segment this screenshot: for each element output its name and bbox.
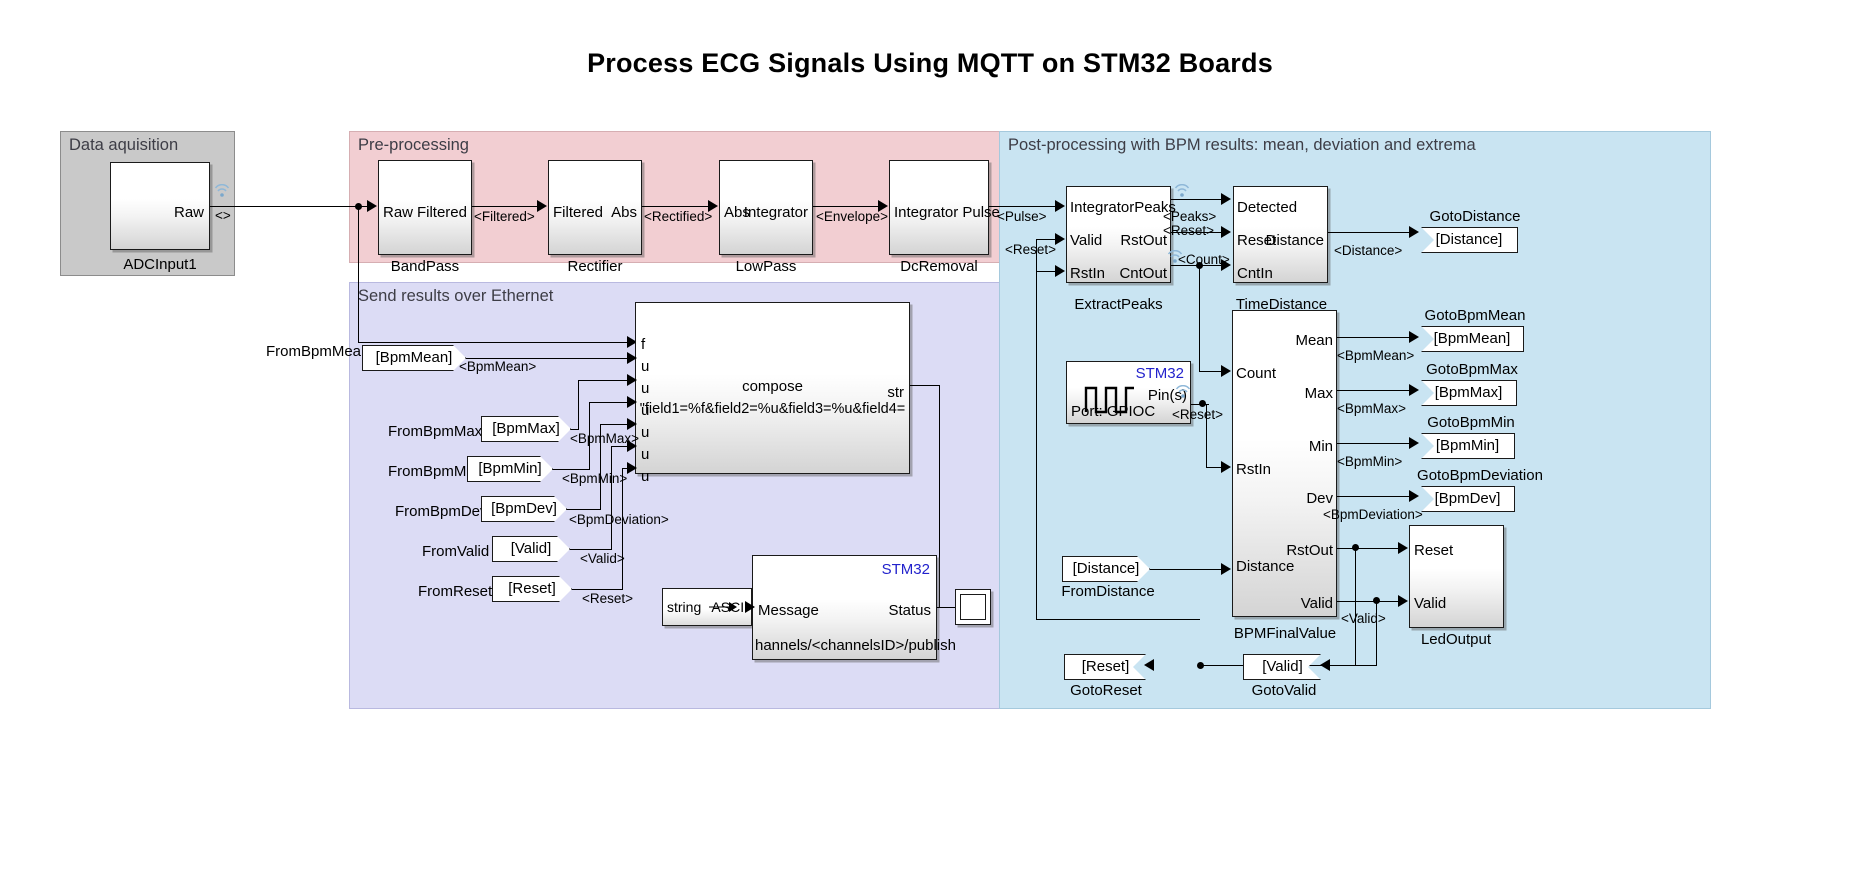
goto-tag-bpm-deviation[interactable]: [BpmDev] bbox=[1421, 486, 1515, 512]
port-label-adc-bus: <> bbox=[215, 208, 231, 223]
port-label-bandpass-out: Filtered bbox=[417, 205, 467, 220]
signal-label-bpmmin: <BpmMin> bbox=[562, 471, 627, 486]
port-label-led-valid: Valid bbox=[1414, 596, 1446, 611]
stm32-brand-gpio: STM32 bbox=[1136, 365, 1184, 382]
arrow-goto-distance bbox=[1409, 226, 1419, 238]
tag-name-from-bpm-min: FromBpmMin bbox=[388, 463, 478, 480]
arrow-goto-bpmmax bbox=[1409, 384, 1419, 396]
tag-name-from-bpm-dev: FromBpmDev bbox=[395, 503, 488, 520]
port-label-timedistance-in3: CntIn bbox=[1237, 266, 1273, 281]
block-name-lowpass: LowPass bbox=[719, 258, 813, 275]
signal-label-bpmmean-out: <BpmMean> bbox=[1337, 348, 1414, 363]
tag-name-from-bpm-mean: FromBpmMean bbox=[266, 343, 369, 360]
from-tag-valid-text: [Valid] bbox=[493, 537, 569, 560]
wifi-icon-gpio bbox=[1175, 385, 1191, 398]
arrow-goto-reset bbox=[1144, 659, 1154, 671]
signal-label-valid: <Valid> bbox=[580, 551, 625, 566]
arrow-led-valid bbox=[1398, 595, 1408, 607]
group-label-preprocessing: Pre-processing bbox=[358, 136, 469, 155]
arrow-goto-bpmdev bbox=[1409, 490, 1419, 502]
tag-name-from-reset: FromReset bbox=[418, 583, 492, 600]
wire-peaks bbox=[1171, 199, 1222, 200]
tag-name-goto-bpm-max: GotoBpmMax bbox=[1410, 361, 1534, 378]
simulink-diagram: Process ECG Signals Using MQTT on STM32 … bbox=[0, 0, 1860, 874]
port-label-bpm-min: Min bbox=[1309, 439, 1333, 454]
from-tag-distance[interactable]: [Distance] bbox=[1062, 556, 1150, 582]
port-label-led-reset: Reset bbox=[1414, 543, 1453, 558]
arrow-extractpeaks-in1 bbox=[1055, 200, 1065, 212]
port-label-mqtt-message: Message bbox=[758, 603, 819, 618]
wire-status-out bbox=[937, 607, 955, 608]
block-label-ascii: ASCII bbox=[711, 599, 748, 615]
arrow-extractpeaks-in3 bbox=[1055, 265, 1065, 277]
signal-label-reset-gpio: <Reset> bbox=[1172, 407, 1223, 422]
group-label-postprocessing: Post-processing with BPM results: mean, … bbox=[1008, 136, 1476, 155]
from-tag-bpm-dev[interactable]: [BpmDev] bbox=[481, 496, 567, 522]
block-rectifier[interactable]: Filtered Abs bbox=[548, 160, 642, 255]
port-label-bandpass-in: Raw bbox=[383, 205, 413, 220]
wire-raw-down bbox=[358, 206, 359, 343]
block-name-bandpass: BandPass bbox=[378, 258, 472, 275]
signal-label-pulse: <Pulse> bbox=[997, 209, 1047, 224]
group-label-ethernet: Send results over Ethernet bbox=[358, 287, 553, 306]
port-label-rectifier-in: Filtered bbox=[553, 205, 603, 220]
arrow-compose-u3 bbox=[627, 396, 637, 408]
junction-gpio-reset bbox=[1199, 400, 1206, 407]
port-label-extractpeaks-in3: RstIn bbox=[1070, 266, 1105, 281]
wire-rstout-to-led bbox=[1337, 548, 1400, 549]
tag-name-from-valid: FromValid bbox=[422, 543, 489, 560]
signal-label-bpmdeviation: <BpmDeviation> bbox=[569, 512, 669, 527]
from-tag-bpm-mean-text: [BpmMean] bbox=[363, 346, 465, 369]
wire-envelope bbox=[813, 206, 879, 207]
wire-from-distance bbox=[1150, 569, 1221, 570]
port-label-compose-in-7: u bbox=[641, 469, 649, 484]
arrow-compose-u2 bbox=[627, 374, 637, 386]
arrow-rectifier-in bbox=[537, 200, 547, 212]
wire-bpmdev-out bbox=[1337, 496, 1411, 497]
arrow-led-reset bbox=[1398, 542, 1408, 554]
wire-str-down bbox=[939, 385, 940, 608]
port-label-bpm-max: Max bbox=[1305, 386, 1333, 401]
wire-count-to-bpm bbox=[1199, 371, 1221, 372]
block-name-adc-input: ADCInput1 bbox=[110, 256, 210, 273]
port-label-bpm-rstout: RstOut bbox=[1286, 543, 1333, 558]
block-extractpeaks[interactable]: IntegratorPeaks Valid RstOut RstIn CntOu… bbox=[1066, 186, 1171, 283]
block-string-to-ascii[interactable]: string ASCII bbox=[662, 588, 752, 626]
block-adc-input[interactable]: Raw bbox=[110, 162, 210, 250]
wire-count-down bbox=[1199, 265, 1200, 372]
goto-tag-bpm-min[interactable]: [BpmMin] bbox=[1421, 433, 1515, 459]
signal-label-bpmmean: <BpmMean> bbox=[459, 359, 536, 374]
wire-rstout-to-reset bbox=[1171, 232, 1222, 233]
wire-pulse bbox=[989, 206, 1056, 207]
from-tag-bpm-min[interactable]: [BpmMin] bbox=[467, 456, 553, 482]
from-tag-bpm-dev-text: [BpmDev] bbox=[482, 497, 566, 520]
signal-label-filtered: <Filtered> bbox=[474, 209, 535, 224]
tag-name-goto-bpm-mean: GotoBpmMean bbox=[1410, 307, 1540, 324]
wire-valid-to-led bbox=[1337, 601, 1400, 602]
from-tag-bpm-mean[interactable]: [BpmMean] bbox=[362, 345, 466, 371]
wire-valid-h1 bbox=[611, 446, 628, 447]
port-label-rectifier-out: Abs bbox=[611, 205, 637, 220]
goto-tag-bpm-deviation-text: [BpmDev] bbox=[1421, 487, 1514, 510]
port-label-extractpeaks-in2: Valid bbox=[1070, 233, 1102, 248]
from-tag-bpm-min-text: [BpmMin] bbox=[468, 457, 552, 480]
wire-bpmmax-out bbox=[1337, 390, 1411, 391]
block-bandpass[interactable]: Raw Filtered bbox=[378, 160, 472, 255]
arrow-goto-bpmmin bbox=[1409, 437, 1419, 449]
wire-bpmmean-out bbox=[1337, 337, 1411, 338]
port-label-compose-in-6: u bbox=[641, 447, 649, 462]
from-tag-reset-text: [Reset] bbox=[493, 577, 571, 600]
wifi-icon-peaks bbox=[1174, 184, 1190, 197]
stm32-brand-mqtt: STM32 bbox=[882, 561, 930, 578]
arrow-bpmfinal-rstin bbox=[1221, 461, 1231, 473]
port-label-extractpeaks-out3: CntOut bbox=[1119, 266, 1167, 281]
block-label-compose-format: "field1=%f&field2=%u&field3=%u&field4= bbox=[636, 401, 909, 417]
wire-valid-h2 bbox=[570, 549, 612, 550]
signal-label-bpmmax-out: <BpmMax> bbox=[1337, 401, 1406, 416]
block-scope-status[interactable] bbox=[955, 589, 991, 625]
port-label-mqtt-status: Status bbox=[888, 603, 931, 618]
block-label-gpio-port: Port: GPIOC bbox=[1071, 404, 1155, 419]
from-tag-bpm-max[interactable]: [BpmMax] bbox=[481, 416, 571, 442]
arrow-bpmfinal-distance bbox=[1221, 563, 1231, 575]
port-label-bpm-rstin: RstIn bbox=[1236, 462, 1271, 477]
arrow-timedistance-in2 bbox=[1221, 226, 1231, 238]
arrow-goto-bpmmean bbox=[1409, 331, 1419, 343]
tag-name-from-distance: FromDistance bbox=[1052, 583, 1164, 600]
port-label-bpm-dev: Dev bbox=[1306, 491, 1333, 506]
arrow-bpmfinal-count bbox=[1221, 365, 1231, 377]
wire-bpmmin-out bbox=[1337, 443, 1411, 444]
arrow-goto-valid bbox=[1320, 659, 1330, 671]
goto-tag-bpm-max[interactable]: [BpmMax] bbox=[1421, 380, 1517, 406]
tag-name-goto-valid: GotoValid bbox=[1236, 682, 1332, 699]
signal-label-envelope: <Envelope> bbox=[816, 209, 888, 224]
wire-bpmdev-h2 bbox=[566, 509, 601, 510]
wire-distance bbox=[1328, 232, 1411, 233]
wire-raw-to-compose-f bbox=[358, 342, 628, 343]
block-name-dcremoval: DcRemoval bbox=[889, 258, 989, 275]
wire-filtered bbox=[472, 206, 538, 207]
page-title: Process ECG Signals Using MQTT on STM32 … bbox=[0, 48, 1860, 79]
port-label-bpm-count: Count bbox=[1236, 366, 1276, 381]
port-label-timedistance-out2: Distance bbox=[1266, 233, 1324, 248]
wire-reset-loop-bottom bbox=[1036, 619, 1200, 620]
port-label-bpm-distance: Distance bbox=[1236, 559, 1294, 574]
goto-tag-bpm-mean[interactable]: [BpmMean] bbox=[1421, 326, 1524, 352]
block-mqtt-publish[interactable]: STM32 Message Status hannels/<channelsID… bbox=[752, 555, 937, 660]
wire-bpmmax-h1 bbox=[578, 380, 628, 381]
port-label-compose-in-2: u bbox=[641, 359, 649, 374]
tag-name-from-bpm-max: FromBpmMax bbox=[388, 423, 482, 440]
wire-gpio-down bbox=[1206, 404, 1207, 468]
port-label-compose-out: str bbox=[887, 385, 904, 400]
block-timedistance[interactable]: Detected Reset Distance CntIn bbox=[1233, 186, 1328, 283]
block-lowpass[interactable]: Abs Integrator bbox=[719, 160, 813, 255]
goto-tag-bpm-mean-text: [BpmMean] bbox=[1421, 327, 1523, 350]
arrow-bandpass-in bbox=[367, 200, 377, 212]
tag-name-goto-bpm-min: GotoBpmMin bbox=[1410, 414, 1532, 431]
port-label-compose-in-5: u bbox=[641, 425, 649, 440]
wire-str-out bbox=[910, 385, 940, 386]
wire-bpmdev-h1 bbox=[600, 424, 628, 425]
port-label-dcremoval-in: Integrator Pulse bbox=[894, 205, 1000, 220]
junction-gotoreset bbox=[1197, 662, 1204, 669]
goto-tag-bpm-max-text: [BpmMax] bbox=[1421, 381, 1516, 404]
from-tag-reset[interactable]: [Reset] bbox=[492, 576, 572, 602]
wire-bpmmin-h2 bbox=[552, 469, 590, 470]
port-label-raw-out: Raw bbox=[174, 205, 204, 220]
goto-tag-distance[interactable]: [Distance] bbox=[1421, 227, 1518, 253]
signal-label-valid-led: <Valid> bbox=[1341, 611, 1386, 626]
signal-label-bpmdev-out: <BpmDeviation> bbox=[1323, 507, 1423, 522]
wire-rstout-down bbox=[1355, 548, 1356, 666]
wire-rectified bbox=[642, 206, 709, 207]
port-label-extractpeaks-out2: RstOut bbox=[1120, 233, 1167, 248]
from-tag-distance-text: [Distance] bbox=[1063, 557, 1149, 580]
block-label-string: string bbox=[667, 599, 701, 615]
signal-label-bpmmax: <BpmMax> bbox=[570, 431, 639, 446]
wire-reset-loop-v bbox=[1036, 239, 1037, 620]
port-label-bpm-valid: Valid bbox=[1301, 596, 1333, 611]
arrow-compose-u4 bbox=[627, 418, 637, 430]
block-label-mqtt-topic: hannels/<channelsID>/publish bbox=[755, 638, 956, 653]
tag-name-goto-reset: GotoReset bbox=[1056, 682, 1156, 699]
block-bpmfinalvalue[interactable]: Count RstIn Distance Mean Max Min Dev Rs… bbox=[1232, 310, 1337, 617]
port-label-compose-in-1: f bbox=[641, 337, 645, 352]
goto-tag-distance-text: [Distance] bbox=[1421, 228, 1517, 251]
scope-screen bbox=[960, 594, 986, 620]
port-label-lowpass-out: Integrator bbox=[744, 205, 808, 220]
wire-bpmmin-h1 bbox=[589, 402, 628, 403]
block-name-extractpeaks: ExtractPeaks bbox=[1050, 296, 1187, 313]
signal-label-bpmmin-out: <BpmMin> bbox=[1337, 454, 1402, 469]
arrow-timedistance-in1 bbox=[1221, 193, 1231, 205]
block-ledoutput[interactable]: Reset Valid bbox=[1409, 525, 1504, 628]
signal-label-peaks: <Peaks> bbox=[1163, 209, 1216, 224]
wire-reset-loop-h1 bbox=[1036, 239, 1056, 240]
block-label-compose: compose bbox=[636, 378, 909, 395]
arrow-compose-u6 bbox=[627, 462, 637, 474]
block-name-ledoutput: LedOutput bbox=[1404, 631, 1508, 648]
wire-rstin-feed bbox=[1036, 271, 1056, 272]
signal-label-rectified: <Rectified> bbox=[644, 209, 712, 224]
arrow-extractpeaks-in2 bbox=[1055, 233, 1065, 245]
arrow-compose-u1 bbox=[627, 352, 637, 364]
block-name-bpmfinalvalue: BPMFinalValue bbox=[1219, 625, 1351, 642]
tag-name-goto-distance: GotoDistance bbox=[1410, 208, 1540, 225]
wire-adc-to-bandpass bbox=[210, 206, 368, 207]
block-compose[interactable]: f u u u u u u compose "field1=%f&field2=… bbox=[635, 302, 910, 474]
signal-label-reset-extract: <Reset> bbox=[1005, 242, 1056, 257]
port-label-bpm-mean: Mean bbox=[1295, 333, 1333, 348]
wire-valid-to-gotovalid bbox=[1325, 665, 1377, 666]
port-label-extractpeaks-in1: IntegratorPeaks bbox=[1070, 200, 1176, 215]
from-tag-valid[interactable]: [Valid] bbox=[492, 536, 570, 562]
from-tag-bpm-max-text: [BpmMax] bbox=[482, 417, 570, 440]
block-dcremoval[interactable]: Integrator Pulse bbox=[889, 160, 989, 255]
wire-bpmmax-v bbox=[578, 380, 579, 430]
group-label-data-acquisition: Data aquisition bbox=[69, 136, 178, 155]
wifi-icon-adc bbox=[214, 184, 230, 197]
signal-label-count: <Count> bbox=[1178, 252, 1230, 267]
goto-tag-bpm-min-text: [BpmMin] bbox=[1421, 434, 1514, 457]
port-label-timedistance-in1: Detected bbox=[1237, 200, 1297, 215]
wire-valid-down bbox=[1376, 601, 1377, 666]
block-name-rectifier: Rectifier bbox=[548, 258, 642, 275]
wire-valid-v bbox=[611, 446, 612, 549]
wire-gpio-to-rstin bbox=[1206, 467, 1221, 468]
signal-label-reset-eth: <Reset> bbox=[582, 591, 633, 606]
wire-reset-v bbox=[622, 468, 623, 589]
wire-reset-h2 bbox=[572, 589, 623, 590]
tag-name-goto-bpm-deviation: GotoBpmDeviation bbox=[1400, 467, 1560, 484]
signal-label-reset-peaks: <Reset> bbox=[1163, 223, 1214, 238]
arrow-mqtt-in bbox=[745, 601, 755, 613]
signal-label-distance: <Distance> bbox=[1334, 243, 1402, 258]
